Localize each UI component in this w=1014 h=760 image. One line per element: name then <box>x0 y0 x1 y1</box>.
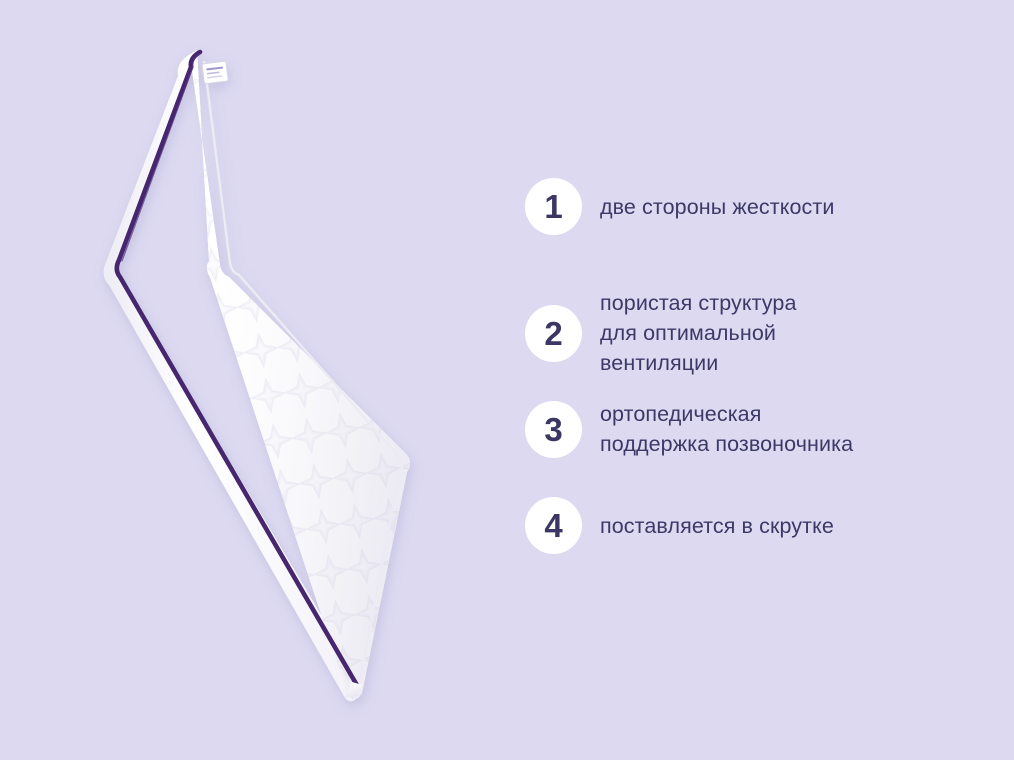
quilt-texture <box>90 30 430 720</box>
infographic-canvas: 1 две стороны жесткости 2 пористая струк… <box>0 0 1014 760</box>
product-image <box>90 30 430 720</box>
feature-label-1: две стороны жесткости <box>600 192 834 222</box>
feature-label-4: поставляется в скрутке <box>600 511 834 541</box>
mattress-body <box>90 30 430 720</box>
feature-item-1: 1 две стороны жесткости <box>525 178 955 235</box>
brand-label-tag <box>202 61 228 84</box>
feature-number-badge-4: 4 <box>525 497 582 554</box>
feature-number-badge-2: 2 <box>525 305 582 362</box>
piping-highlight <box>122 54 200 261</box>
feature-number-badge-1: 1 <box>525 178 582 235</box>
feature-item-3: 3 ортопедическая поддержка позвоночника <box>525 399 955 459</box>
feature-item-2: 2 пористая структура для оптимальной вен… <box>525 288 955 378</box>
feature-item-4: 4 поставляется в скрутке <box>525 497 955 554</box>
feature-label-3: ортопедическая поддержка позвоночника <box>600 399 853 459</box>
feature-label-2: пористая структура для оптимальной венти… <box>600 288 797 378</box>
feature-number-badge-3: 3 <box>525 401 582 458</box>
